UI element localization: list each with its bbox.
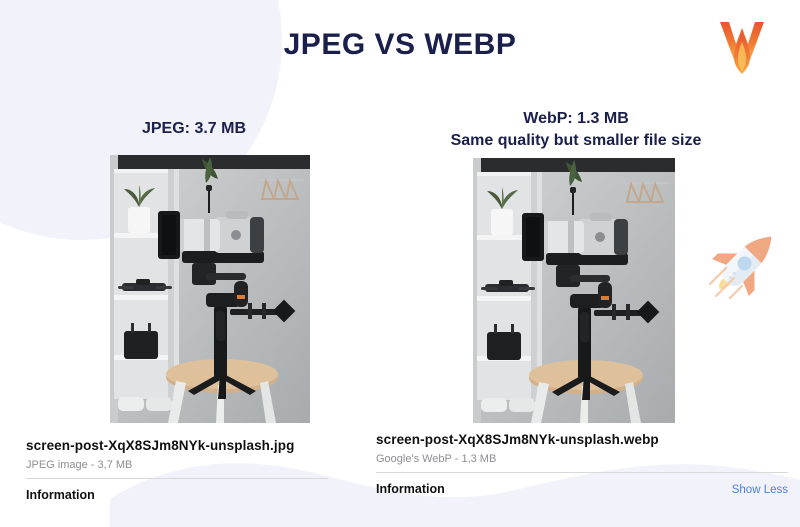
- jpeg-photo: [110, 155, 310, 423]
- webp-heading: WebP: 1.3 MB Same quality but smaller fi…: [406, 108, 746, 152]
- webp-information-row: Information Show Less: [376, 482, 788, 496]
- webp-heading-line2: Same quality but smaller file size: [406, 130, 746, 152]
- webp-show-less-link[interactable]: Show Less: [732, 484, 788, 496]
- webp-file-name: screen-post-XqX8SJm8NYk-unsplash.webp: [376, 432, 788, 447]
- jpeg-file-name: screen-post-XqX8SJm8NYk-unsplash.jpg: [26, 438, 328, 453]
- slide-canvas: JPEG VS WEBP JPEG: 3.7 MB: [0, 0, 800, 527]
- page-title: JPEG VS WEBP: [0, 28, 800, 62]
- flame-w-logo-icon: [716, 14, 768, 76]
- jpeg-information-label: Information: [26, 488, 95, 502]
- rocket-icon: [706, 222, 786, 302]
- webp-information-label: Information: [376, 482, 445, 496]
- jpeg-heading: JPEG: 3.7 MB: [78, 118, 310, 140]
- webp-divider: [376, 472, 788, 473]
- webp-file-meta: Google's WebP - 1,3 MB: [376, 453, 788, 465]
- jpeg-divider: [26, 478, 328, 479]
- webp-photo: [473, 158, 675, 423]
- webp-heading-line1: WebP: 1.3 MB: [406, 108, 746, 130]
- jpeg-file-meta: JPEG image - 3,7 MB: [26, 459, 328, 471]
- webp-file-info: screen-post-XqX8SJm8NYk-unsplash.webp Go…: [376, 432, 788, 496]
- jpeg-file-info: screen-post-XqX8SJm8NYk-unsplash.jpg JPE…: [26, 438, 328, 502]
- jpeg-information-row: Information: [26, 488, 328, 502]
